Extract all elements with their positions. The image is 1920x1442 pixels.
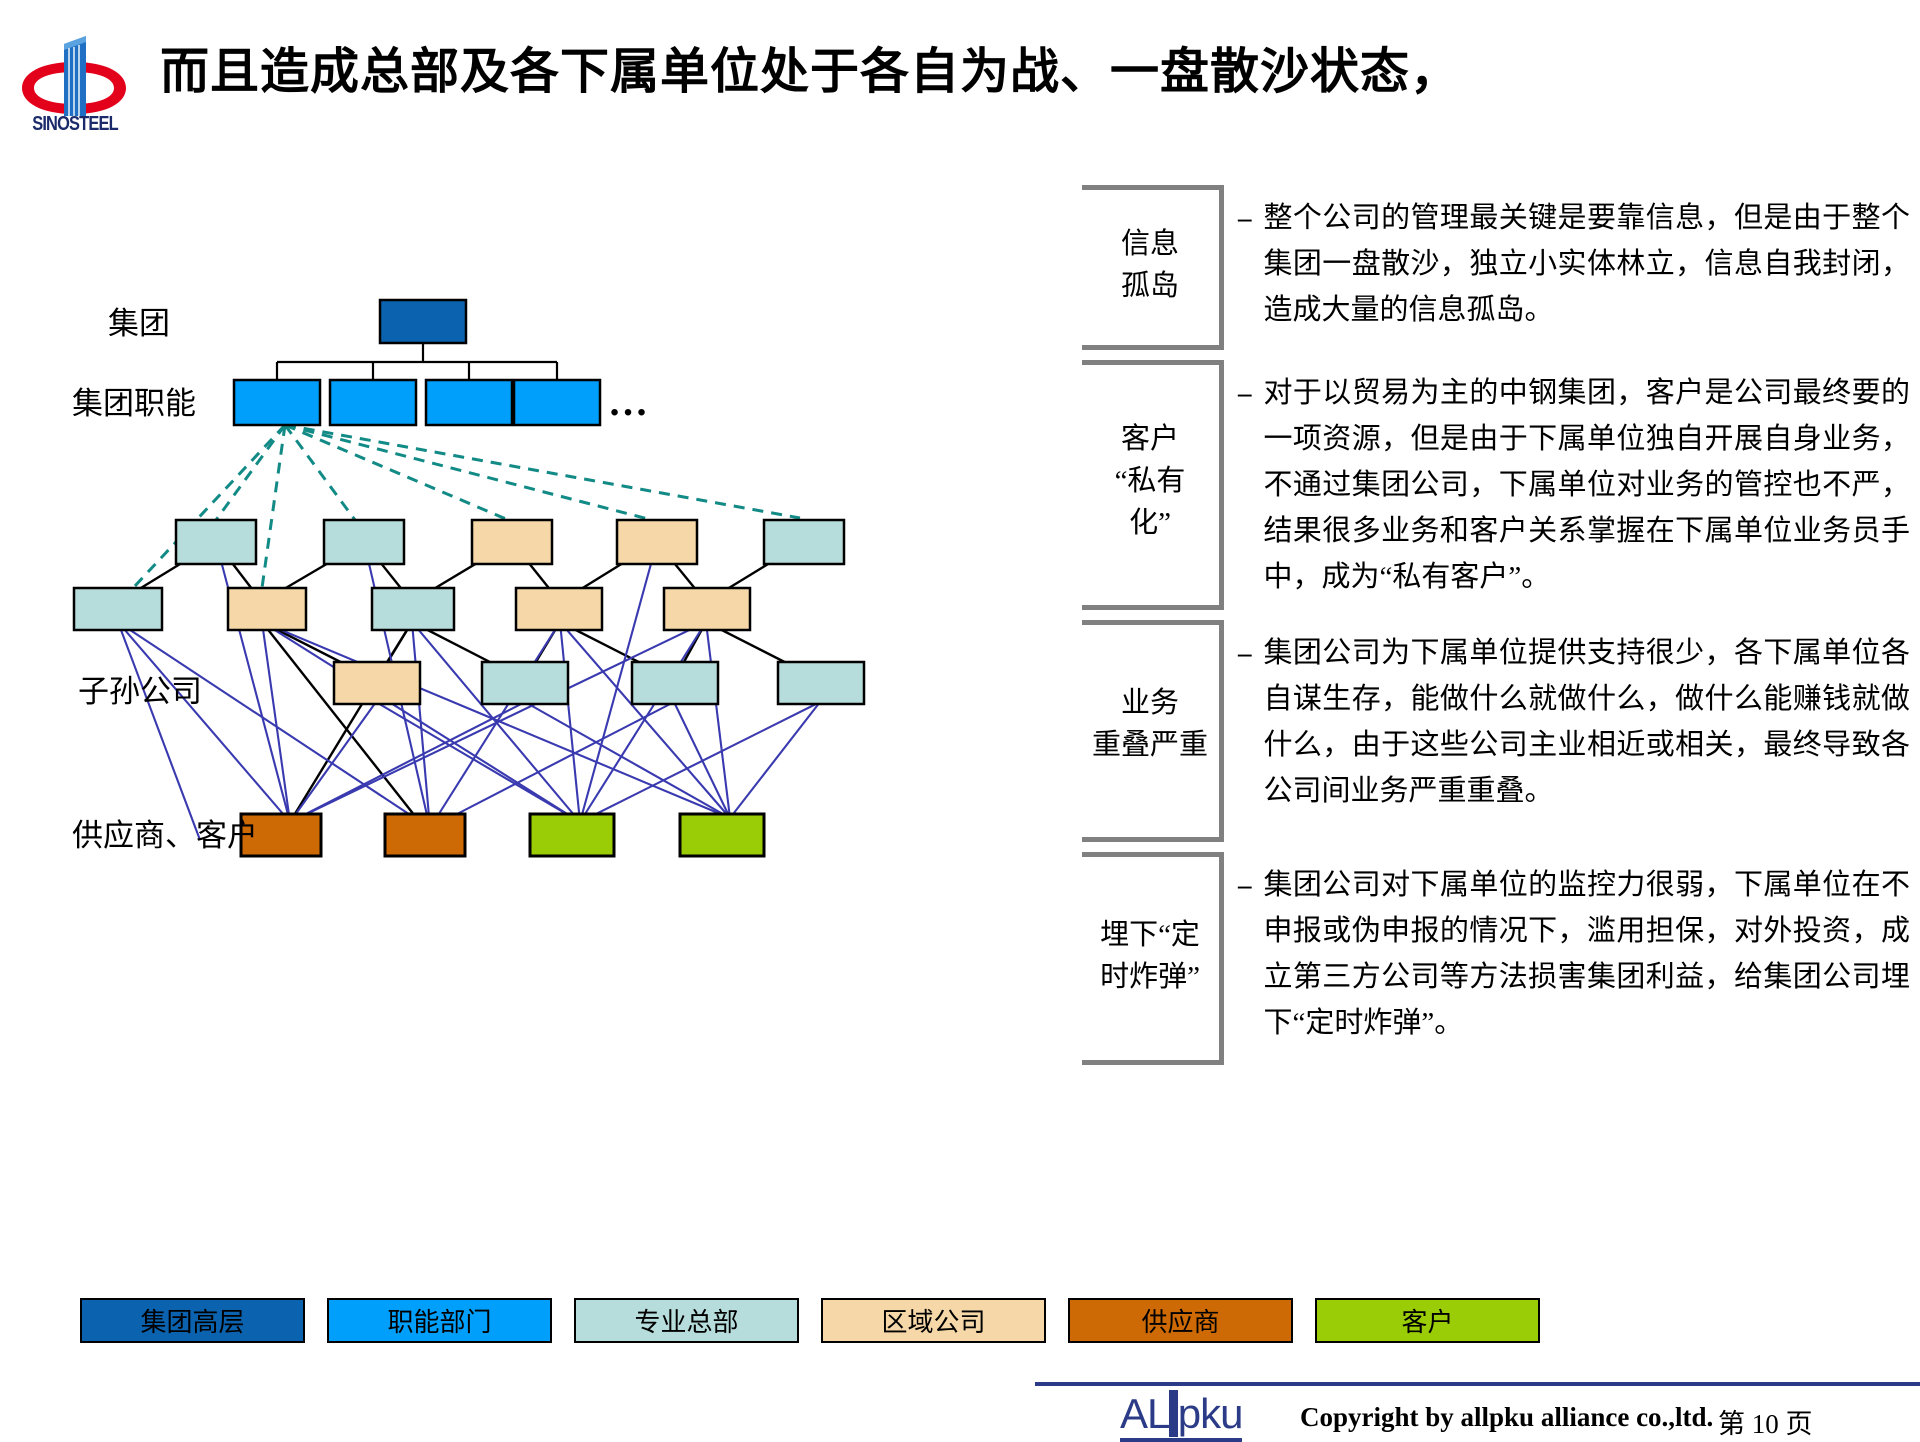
bullet-dash: – <box>1238 195 1252 333</box>
issue-section-information-island: 信息 孤岛 – 整个公司的管理最关键是要靠信息，但是由于整个集团一盘散沙，独立小… <box>1070 185 1910 350</box>
issue-section-time-bomb: 埋下“定 时炸弹” – 集团公司对下属单位的监控力很弱，下属单位在不申报或伪申报… <box>1070 852 1910 1065</box>
org-diagram-svg <box>0 150 1080 1100</box>
section-label-line: 客户 <box>1084 418 1216 460</box>
section-label-line: 化” <box>1084 502 1216 544</box>
section-label-line: 孤岛 <box>1084 265 1216 307</box>
section-text: 集团公司对下属单位的监控力很弱，下属单位在不申报或伪申报的情况下，滥用担保，对外… <box>1264 862 1911 1046</box>
org-structure-diagram: 集团 集团职能 子孙公司 供应商、客户 … <box>0 150 1080 1100</box>
slide-header: SINOSTEEL 而且造成总部及各下属单位处于各自为战、一盘散沙状态， <box>0 0 1920 150</box>
node-l3-2[interactable] <box>324 520 404 564</box>
dashed-influence-links <box>120 425 800 602</box>
section-text: 集团公司为下属单位提供支持很少，各下属单位各自谋生存，能做什么就做什么，做什么能… <box>1264 630 1911 814</box>
node-function-2[interactable] <box>330 380 416 425</box>
slide-footer: ALlpku Copyright by allpku alliance co.,… <box>0 1380 1920 1440</box>
legend: 集团高层 职能部门 专业总部 区域公司 供应商 客户 <box>80 1298 1570 1343</box>
node-function-1[interactable] <box>234 380 320 425</box>
node-l5-3[interactable] <box>632 662 718 704</box>
node-l3-3[interactable] <box>472 520 552 564</box>
node-supplier-2[interactable] <box>385 814 465 856</box>
node-l4-1[interactable] <box>74 588 162 630</box>
row-label-suppliers-customers: 供应商、客户 <box>72 810 258 855</box>
node-customer-1[interactable] <box>530 814 614 856</box>
bullet-dash: – <box>1238 862 1252 1046</box>
section-label-line: 埋下“定 <box>1084 914 1216 956</box>
sinosteel-logo-wordmark: SINOSTEEL <box>30 113 120 136</box>
copyright-text: Copyright by allpku alliance co.,ltd. <box>1300 1402 1713 1433</box>
allpku-logo-prefix: AL <box>1120 1390 1169 1437</box>
section-text: 整个公司的管理最关键是要靠信息，但是由于整个集团一盘散沙，独立小实体林立，信息自… <box>1264 195 1911 333</box>
legend-item-group-executive[interactable]: 集团高层 <box>80 1298 305 1343</box>
section-label-line: “私有 <box>1084 460 1216 502</box>
sinosteel-logo: SINOSTEEL <box>14 18 134 136</box>
allpku-logo: ALlpku <box>1120 1392 1242 1442</box>
page-title: 而且造成总部及各下属单位处于各自为战、一盘散沙状态， <box>160 28 1720 116</box>
section-label-line: 业务 <box>1084 682 1216 724</box>
legend-item-customer[interactable]: 客户 <box>1315 1298 1540 1343</box>
row-label-group-function: 集团职能 <box>72 378 196 423</box>
node-l3-5[interactable] <box>764 520 844 564</box>
issues-panel: 信息 孤岛 – 整个公司的管理最关键是要靠信息，但是由于整个集团一盘散沙，独立小… <box>1070 215 1910 1275</box>
node-l5-4[interactable] <box>778 662 864 704</box>
node-customer-2[interactable] <box>680 814 764 856</box>
node-l3-1[interactable] <box>176 520 256 564</box>
node-l4-2[interactable] <box>228 588 306 630</box>
row-label-group: 集团 <box>108 298 170 343</box>
allpku-logo-suffix: pku <box>1178 1390 1243 1437</box>
legend-item-supplier[interactable]: 供应商 <box>1068 1298 1293 1343</box>
node-l4-4[interactable] <box>516 588 602 630</box>
page-number: 第 10 页 <box>1718 1402 1813 1441</box>
legend-item-professional-hq[interactable]: 专业总部 <box>574 1298 799 1343</box>
node-function-4[interactable] <box>514 380 600 425</box>
section-text: 对于以贸易为主的中钢集团，客户是公司最终要的一项资源，但是由于下属单位独自开展自… <box>1264 370 1911 600</box>
legend-item-regional-company[interactable]: 区域公司 <box>821 1298 1046 1343</box>
node-group-top[interactable] <box>380 300 466 343</box>
section-label-line: 重叠严重 <box>1084 724 1216 766</box>
node-function-3[interactable] <box>426 380 512 425</box>
node-l4-5[interactable] <box>664 588 750 630</box>
node-l5-1[interactable] <box>334 662 420 704</box>
node-l3-4[interactable] <box>617 520 697 564</box>
issue-section-customer-privatization: 客户 “私有 化” – 对于以贸易为主的中钢集团，客户是公司最终要的一项资源，但… <box>1070 360 1910 610</box>
ellipsis-more-functions: … <box>608 378 652 425</box>
node-l4-3[interactable] <box>372 588 454 630</box>
legend-item-function-dept[interactable]: 职能部门 <box>327 1298 552 1343</box>
bullet-dash: – <box>1238 370 1252 600</box>
row-label-subsidiaries: 子孙公司 <box>78 666 202 711</box>
bullet-dash: – <box>1238 630 1252 814</box>
tree-connectors-top <box>277 342 557 380</box>
slide: SINOSTEEL 而且造成总部及各下属单位处于各自为战、一盘散沙状态， <box>0 0 1920 1440</box>
section-label-line: 时炸弹” <box>1084 956 1216 998</box>
node-l5-2[interactable] <box>482 662 568 704</box>
issue-section-business-overlap: 业务 重叠严重 – 集团公司为下属单位提供支持很少，各下属单位各自谋生存，能做什… <box>1070 620 1910 842</box>
allpku-logo-bar: l <box>1169 1390 1177 1437</box>
section-label-line: 信息 <box>1084 223 1216 265</box>
footer-divider <box>1035 1382 1920 1386</box>
